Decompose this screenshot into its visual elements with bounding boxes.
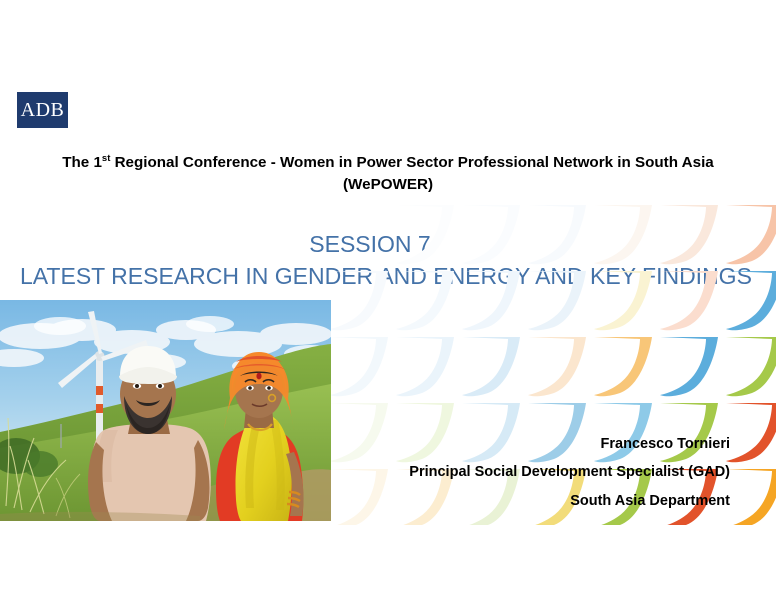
petal-shape (396, 337, 454, 396)
conference-title-prefix: The 1 (62, 154, 102, 171)
speaker-block: Francesco Tornieri Principal Social Deve… (230, 430, 730, 515)
petal-shape (462, 337, 520, 396)
speaker-role: Principal Social Development Specialist … (230, 458, 730, 486)
speaker-name: Francesco Tornieri (230, 430, 730, 458)
petal-shape (660, 337, 718, 396)
petal-shape (726, 205, 776, 264)
conference-title-suffix: Regional Conference - Women in Power Sec… (110, 154, 713, 193)
speaker-department: South Asia Department (230, 487, 730, 515)
session-heading: SESSION 7 LATEST RESEARCH IN GENDER AND … (20, 229, 720, 292)
session-heading-line-1: SESSION 7 (20, 229, 720, 261)
adb-logo: ADB (17, 92, 68, 128)
petal-shape (330, 337, 388, 396)
petal-shape (594, 337, 652, 396)
petal-shape (528, 337, 586, 396)
petal-shape (726, 469, 776, 525)
adb-logo-text: ADB (21, 100, 65, 120)
session-heading-line-2: LATEST RESEARCH IN GENDER AND ENERGY AND… (20, 261, 720, 293)
conference-title: The 1st Regional Conference - Women in P… (38, 152, 738, 196)
petal-shape (726, 403, 776, 462)
presentation-slide: ADB The 1st Regional Conference - Women … (0, 0, 776, 600)
petal-shape (726, 337, 776, 396)
